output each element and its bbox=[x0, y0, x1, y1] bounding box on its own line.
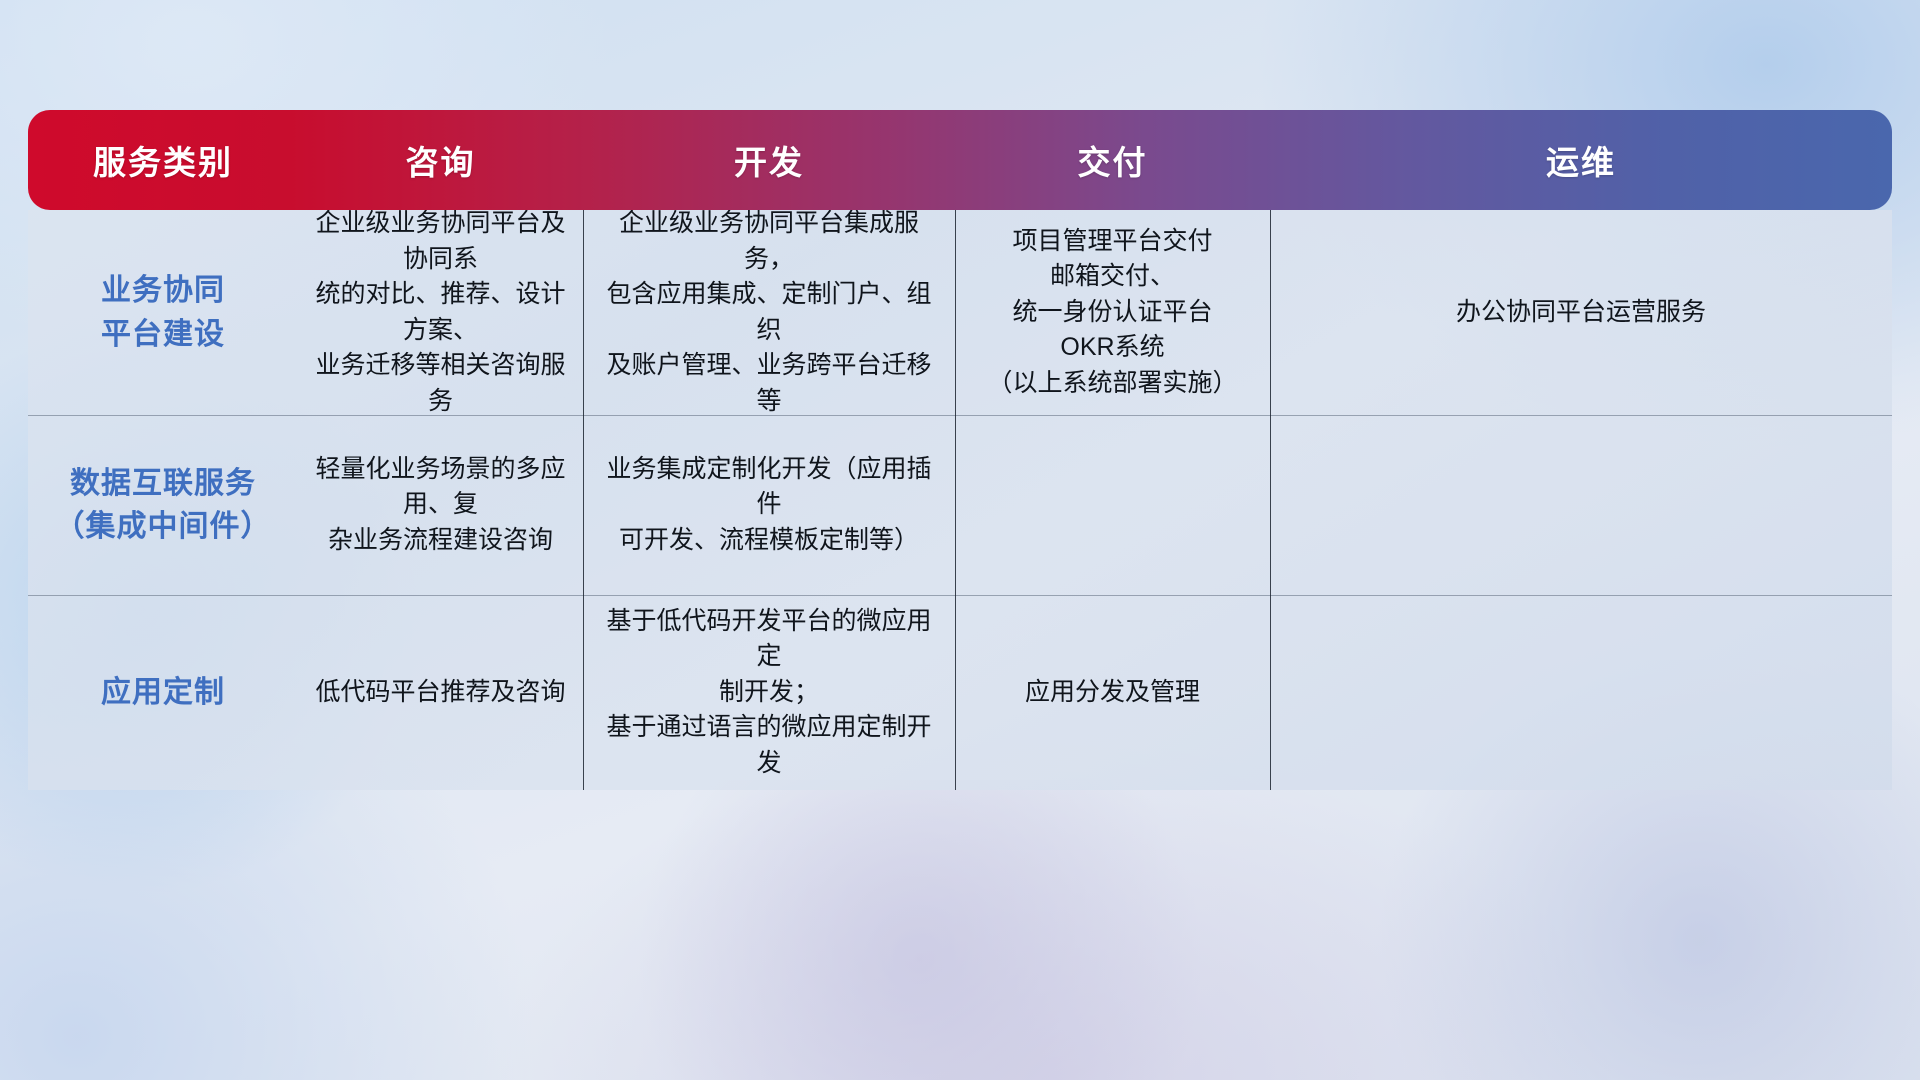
cell-development: 业务集成定制化开发（应用插件 可开发、流程模板定制等） bbox=[583, 415, 955, 595]
cell-delivery: 应用分发及管理 bbox=[955, 595, 1270, 790]
background-glow-bottom-center bbox=[560, 780, 1280, 1080]
table-row: 业务协同 平台建设 企业级业务协同平台及协同系 统的对比、推荐、设计方案、 业务… bbox=[28, 210, 1892, 415]
table-row: 应用定制 低代码平台推荐及咨询 基于低代码开发平台的微应用定 制开发； 基于通过… bbox=[28, 595, 1892, 790]
column-header-consulting: 咨询 bbox=[298, 110, 583, 210]
cell-delivery bbox=[955, 415, 1270, 595]
cell-consulting: 轻量化业务场景的多应用、复 杂业务流程建设咨询 bbox=[298, 415, 583, 595]
cell-operations bbox=[1270, 595, 1892, 790]
table-header-row: 服务类别 咨询 开发 交付 运维 bbox=[28, 110, 1892, 210]
cell-operations bbox=[1270, 415, 1892, 595]
column-header-delivery: 交付 bbox=[955, 110, 1270, 210]
column-header-operations: 运维 bbox=[1270, 110, 1892, 210]
row-category-label: 业务协同 平台建设 bbox=[28, 210, 298, 415]
service-matrix-table: 服务类别 咨询 开发 交付 运维 业务协同 平台建设 企业级业务协同平台及协同系… bbox=[28, 110, 1892, 790]
cell-operations: 办公协同平台运营服务 bbox=[1270, 210, 1892, 415]
cell-consulting: 企业级业务协同平台及协同系 统的对比、推荐、设计方案、 业务迁移等相关咨询服务 bbox=[298, 210, 583, 415]
column-header-category: 服务类别 bbox=[28, 110, 298, 210]
row-category-label: 数据互联服务 （集成中间件） bbox=[28, 415, 298, 595]
table-body: 业务协同 平台建设 企业级业务协同平台及协同系 统的对比、推荐、设计方案、 业务… bbox=[28, 210, 1892, 790]
cell-consulting: 低代码平台推荐及咨询 bbox=[298, 595, 583, 790]
cell-delivery: 项目管理平台交付 邮箱交付、 统一身份认证平台 OKR系统 （以上系统部署实施） bbox=[955, 210, 1270, 415]
cell-development: 基于低代码开发平台的微应用定 制开发； 基于通过语言的微应用定制开发 bbox=[583, 595, 955, 790]
table-row: 数据互联服务 （集成中间件） 轻量化业务场景的多应用、复 杂业务流程建设咨询 业… bbox=[28, 415, 1892, 595]
row-category-label: 应用定制 bbox=[28, 595, 298, 790]
cell-development: 企业级业务协同平台集成服务， 包含应用集成、定制门户、组织 及账户管理、业务跨平… bbox=[583, 210, 955, 415]
column-header-development: 开发 bbox=[583, 110, 955, 210]
